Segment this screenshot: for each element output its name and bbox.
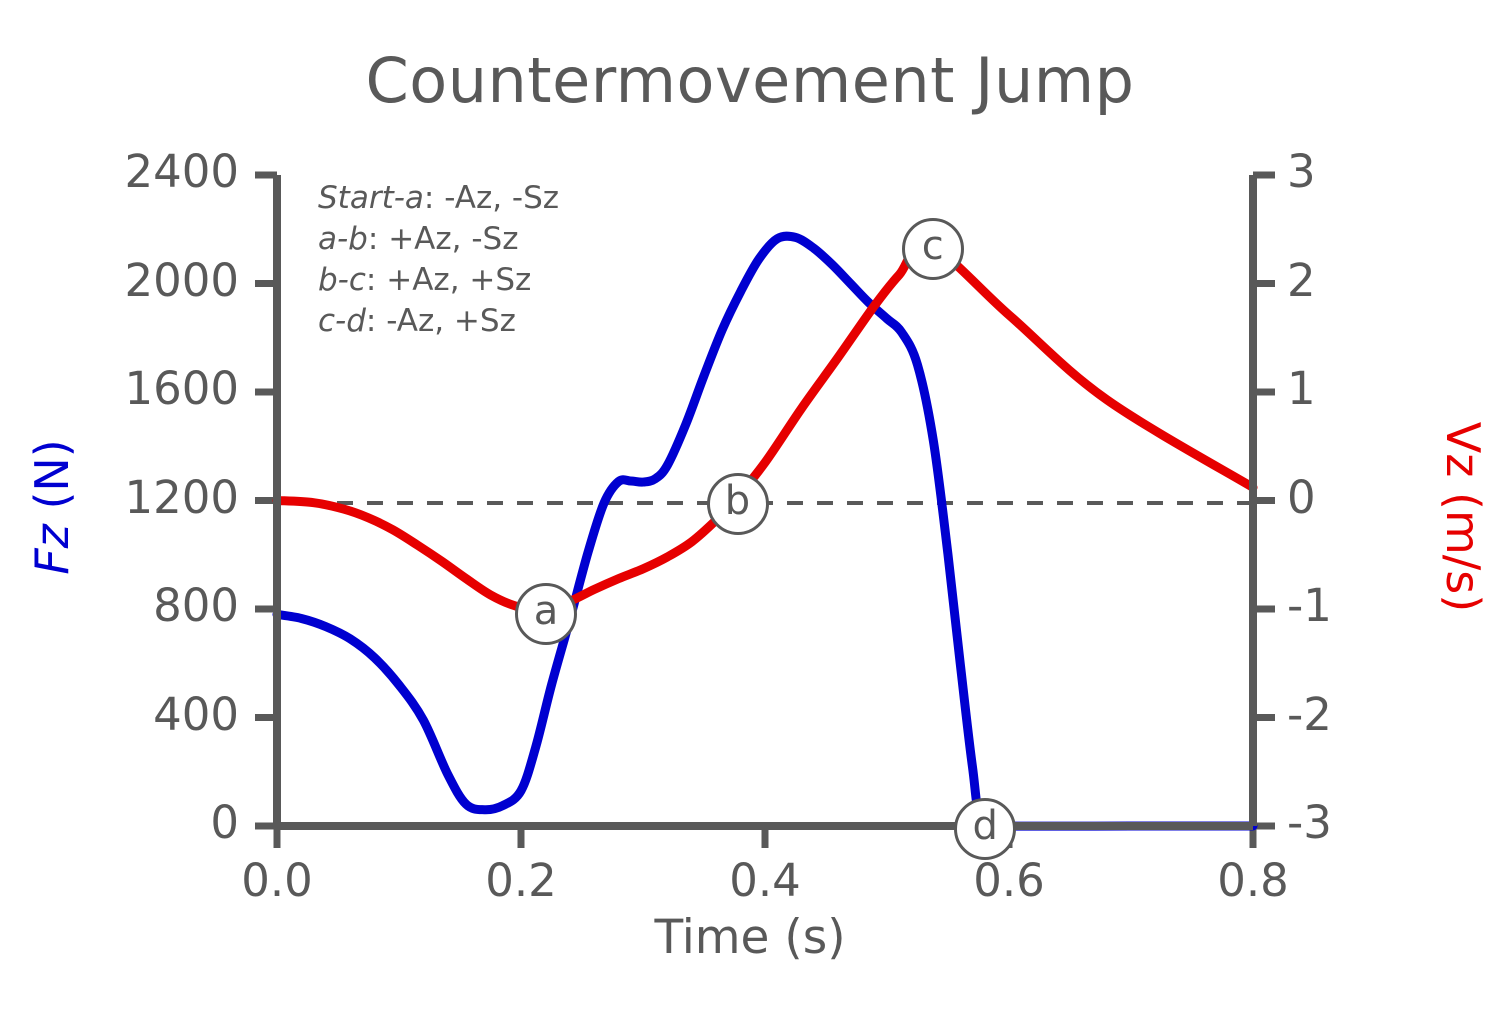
y-axis-left-tick-label: 400 (17, 688, 239, 741)
y-axis-left-tick-label: 800 (17, 579, 239, 632)
y-axis-left-tick-label: 2000 (17, 254, 239, 307)
chart-figure: Countermovement Jump Fz (N) Vz (m/s) Tim… (0, 0, 1500, 1025)
y-axis-left-tick-label: 2400 (17, 145, 239, 198)
y-axis-right-tick-label: 0 (1287, 471, 1407, 524)
y-axis-left-tick-label: 0 (17, 796, 239, 849)
y-axis-right-tick-label: 1 (1287, 362, 1407, 415)
event-marker-a: a (515, 583, 577, 645)
x-axis-tick-label: 0.2 (431, 854, 611, 907)
x-axis-tick-label: 0.4 (675, 854, 855, 907)
series-line-vz (277, 244, 1253, 611)
series-line-fz (277, 236, 1253, 828)
y-axis-right-tick-label: 2 (1287, 254, 1407, 307)
x-axis-tick-label: 0.0 (187, 854, 367, 907)
x-axis-tick-label: 0.6 (919, 854, 1099, 907)
y-axis-right-tick-label: -1 (1287, 579, 1407, 632)
y-axis-right-tick-label: -3 (1287, 796, 1407, 849)
y-axis-left-tick-label: 1200 (17, 471, 239, 524)
y-axis-right-tick-label: -2 (1287, 688, 1407, 741)
y-axis-left-tick-label: 1600 (17, 362, 239, 415)
event-marker-d: d (954, 798, 1016, 860)
y-axis-right-tick-label: 3 (1287, 145, 1407, 198)
event-marker-c: c (902, 218, 964, 280)
x-axis-tick-label: 0.8 (1163, 854, 1343, 907)
event-marker-b: b (707, 473, 769, 535)
